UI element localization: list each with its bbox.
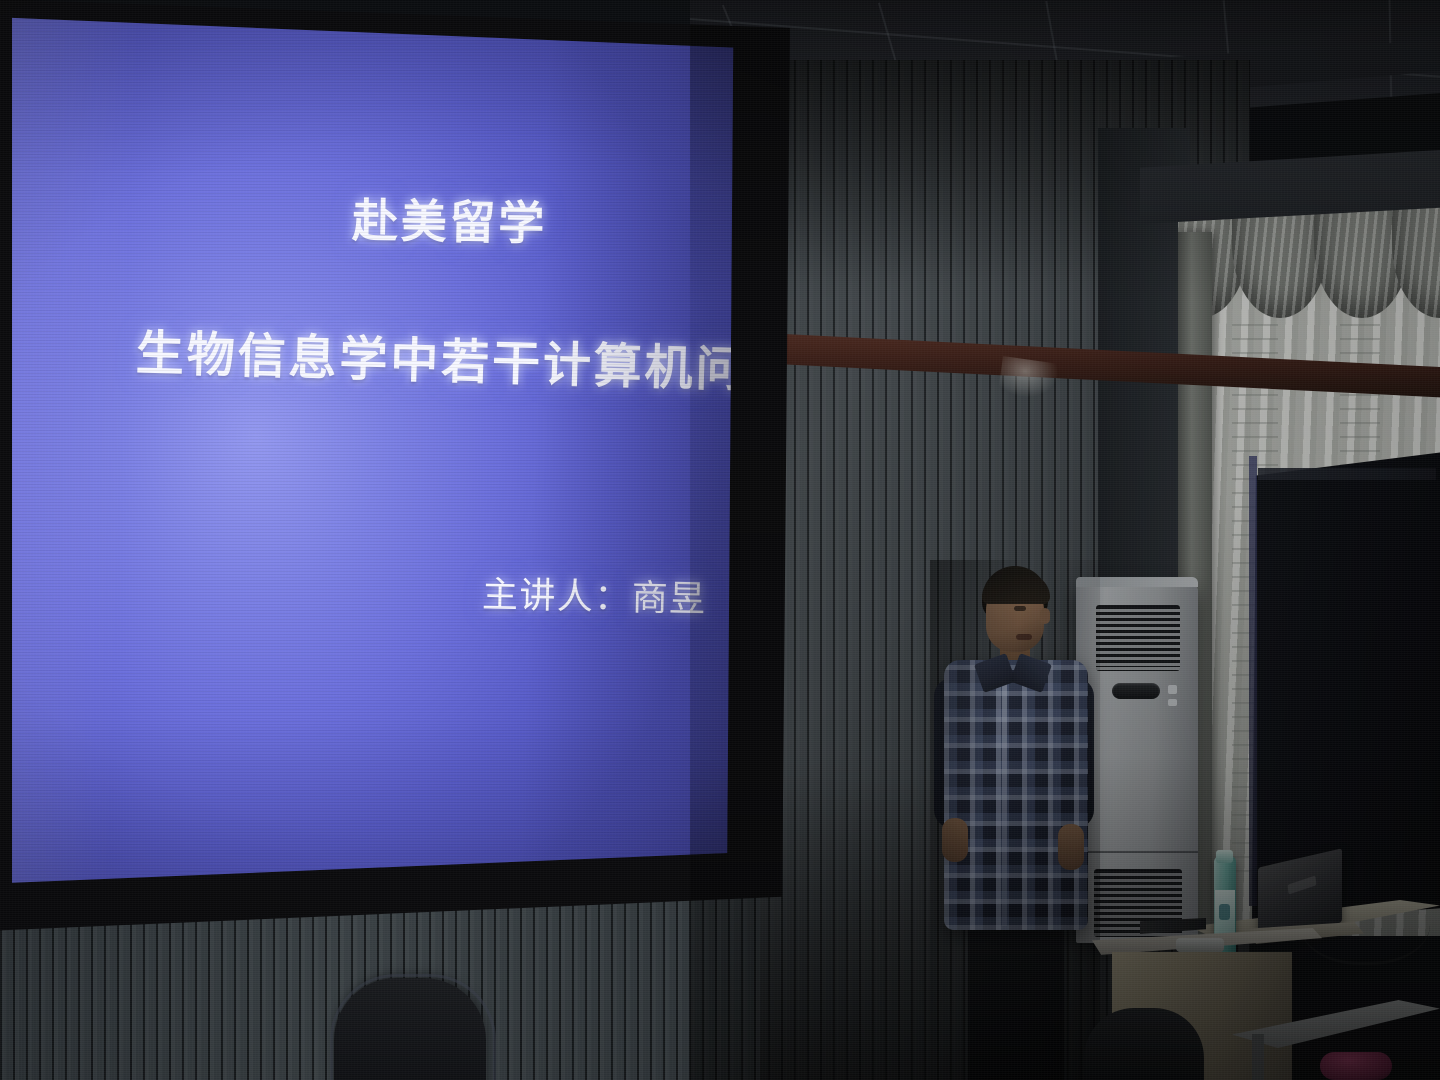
water-bottle-cap bbox=[1216, 850, 1233, 863]
air-conditioner-upper-grille bbox=[1096, 605, 1180, 671]
display-panel-edge bbox=[1249, 456, 1257, 906]
projection-screen[interactable]: 赴美留学 生物信息学中若干计算机问题研究 主讲人：商昱 bbox=[0, 0, 752, 920]
screen-scanlines bbox=[0, 0, 752, 920]
chair-back-right[interactable] bbox=[1084, 1008, 1204, 1080]
water-bottle-label bbox=[1215, 890, 1235, 934]
valance-swag bbox=[1392, 196, 1440, 318]
microphone-base bbox=[1176, 938, 1224, 952]
dark-display-panel[interactable] bbox=[1252, 452, 1440, 922]
presenter bbox=[930, 560, 1100, 1080]
side-desk-leg bbox=[1252, 1034, 1264, 1080]
presenter-hair-fringe bbox=[982, 574, 1050, 604]
presenter-ear bbox=[1040, 608, 1050, 624]
lecture-room-scene: 赴美留学 生物信息学中若干计算机问题研究 主讲人：商昱 bbox=[0, 0, 1440, 1080]
presenter-eye bbox=[1014, 606, 1026, 611]
chair-back-rim bbox=[330, 974, 496, 1080]
presenter-right-hand bbox=[1058, 824, 1084, 870]
presenter-mouth bbox=[1016, 634, 1032, 640]
presenter-plaid-shirt bbox=[944, 660, 1088, 930]
pink-object-under-desk bbox=[1320, 1052, 1392, 1080]
air-conditioner-indicator bbox=[1168, 699, 1177, 706]
presenter-shirt-placket bbox=[1002, 664, 1007, 926]
display-panel-bezel bbox=[1258, 468, 1436, 480]
air-conditioner-display-panel[interactable] bbox=[1112, 683, 1160, 699]
presenter-pants bbox=[968, 912, 1064, 1080]
air-conditioner-indicator bbox=[1168, 685, 1177, 694]
chair-rail-scuff bbox=[998, 356, 1063, 404]
presenter-left-hand bbox=[942, 818, 968, 862]
